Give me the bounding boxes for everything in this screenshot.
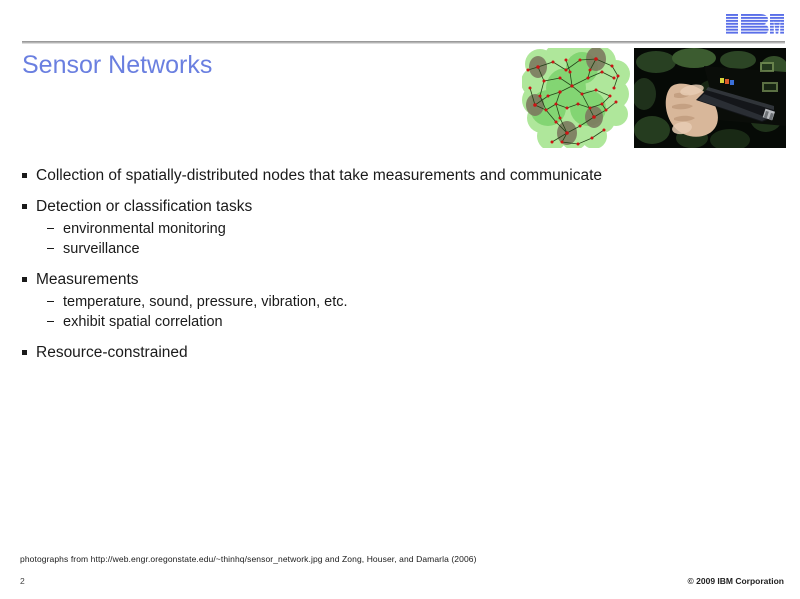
photo-credit: photographs from http://web.engr.oregons… <box>20 554 477 565</box>
sub-bullet-text: exhibit spatial correlation <box>63 314 223 330</box>
bullet-text: Resource-constrained <box>36 344 188 361</box>
sub-bullet-item: surveillance <box>22 239 722 259</box>
dash-bullet-icon <box>47 301 54 302</box>
sub-bullet-item: temperature, sound, pressure, vibration,… <box>22 292 722 312</box>
page-title: Sensor Networks <box>22 50 212 80</box>
bullet-item: Resource-constrained <box>22 343 722 363</box>
square-bullet-icon <box>22 204 27 209</box>
bullet-item: Measurements <box>22 270 722 290</box>
image-strip <box>522 48 786 148</box>
copyright-notice: © 2009 IBM Corporation <box>688 576 784 587</box>
sub-bullet-item: environmental monitoring <box>22 219 722 239</box>
bullet-item: Detection or classification tasks <box>22 197 722 217</box>
page-number: 2 <box>20 576 25 587</box>
dash-bullet-icon <box>47 321 54 322</box>
bullet-group: Measurements temperature, sound, pressur… <box>22 270 722 332</box>
sensor-network-graph-photo <box>522 48 630 148</box>
bullet-item: Collection of spatially-distributed node… <box>22 166 722 186</box>
sub-bullet-list: temperature, sound, pressure, vibration,… <box>22 292 722 332</box>
header-divider <box>22 41 785 44</box>
slide: Sensor Networks <box>0 0 800 599</box>
sub-bullet-list: environmental monitoring surveillance <box>22 219 722 259</box>
dash-bullet-icon <box>47 228 54 229</box>
sub-bullet-item: exhibit spatial correlation <box>22 312 722 332</box>
ibm-logo <box>726 14 784 35</box>
bullet-text: Collection of spatially-distributed node… <box>36 167 602 184</box>
square-bullet-icon <box>22 350 27 355</box>
square-bullet-icon <box>22 277 27 282</box>
soldier-handheld-sensor-photo <box>634 48 786 148</box>
sub-bullet-text: surveillance <box>63 241 140 257</box>
bullet-text: Detection or classification tasks <box>36 198 252 215</box>
bullet-list: Collection of spatially-distributed node… <box>22 166 722 374</box>
sub-bullet-text: temperature, sound, pressure, vibration,… <box>63 294 348 310</box>
dash-bullet-icon <box>47 248 54 249</box>
bullet-text: Measurements <box>36 271 139 288</box>
square-bullet-icon <box>22 173 27 178</box>
sub-bullet-text: environmental monitoring <box>63 221 226 237</box>
bullet-group: Detection or classification tasks enviro… <box>22 197 722 259</box>
